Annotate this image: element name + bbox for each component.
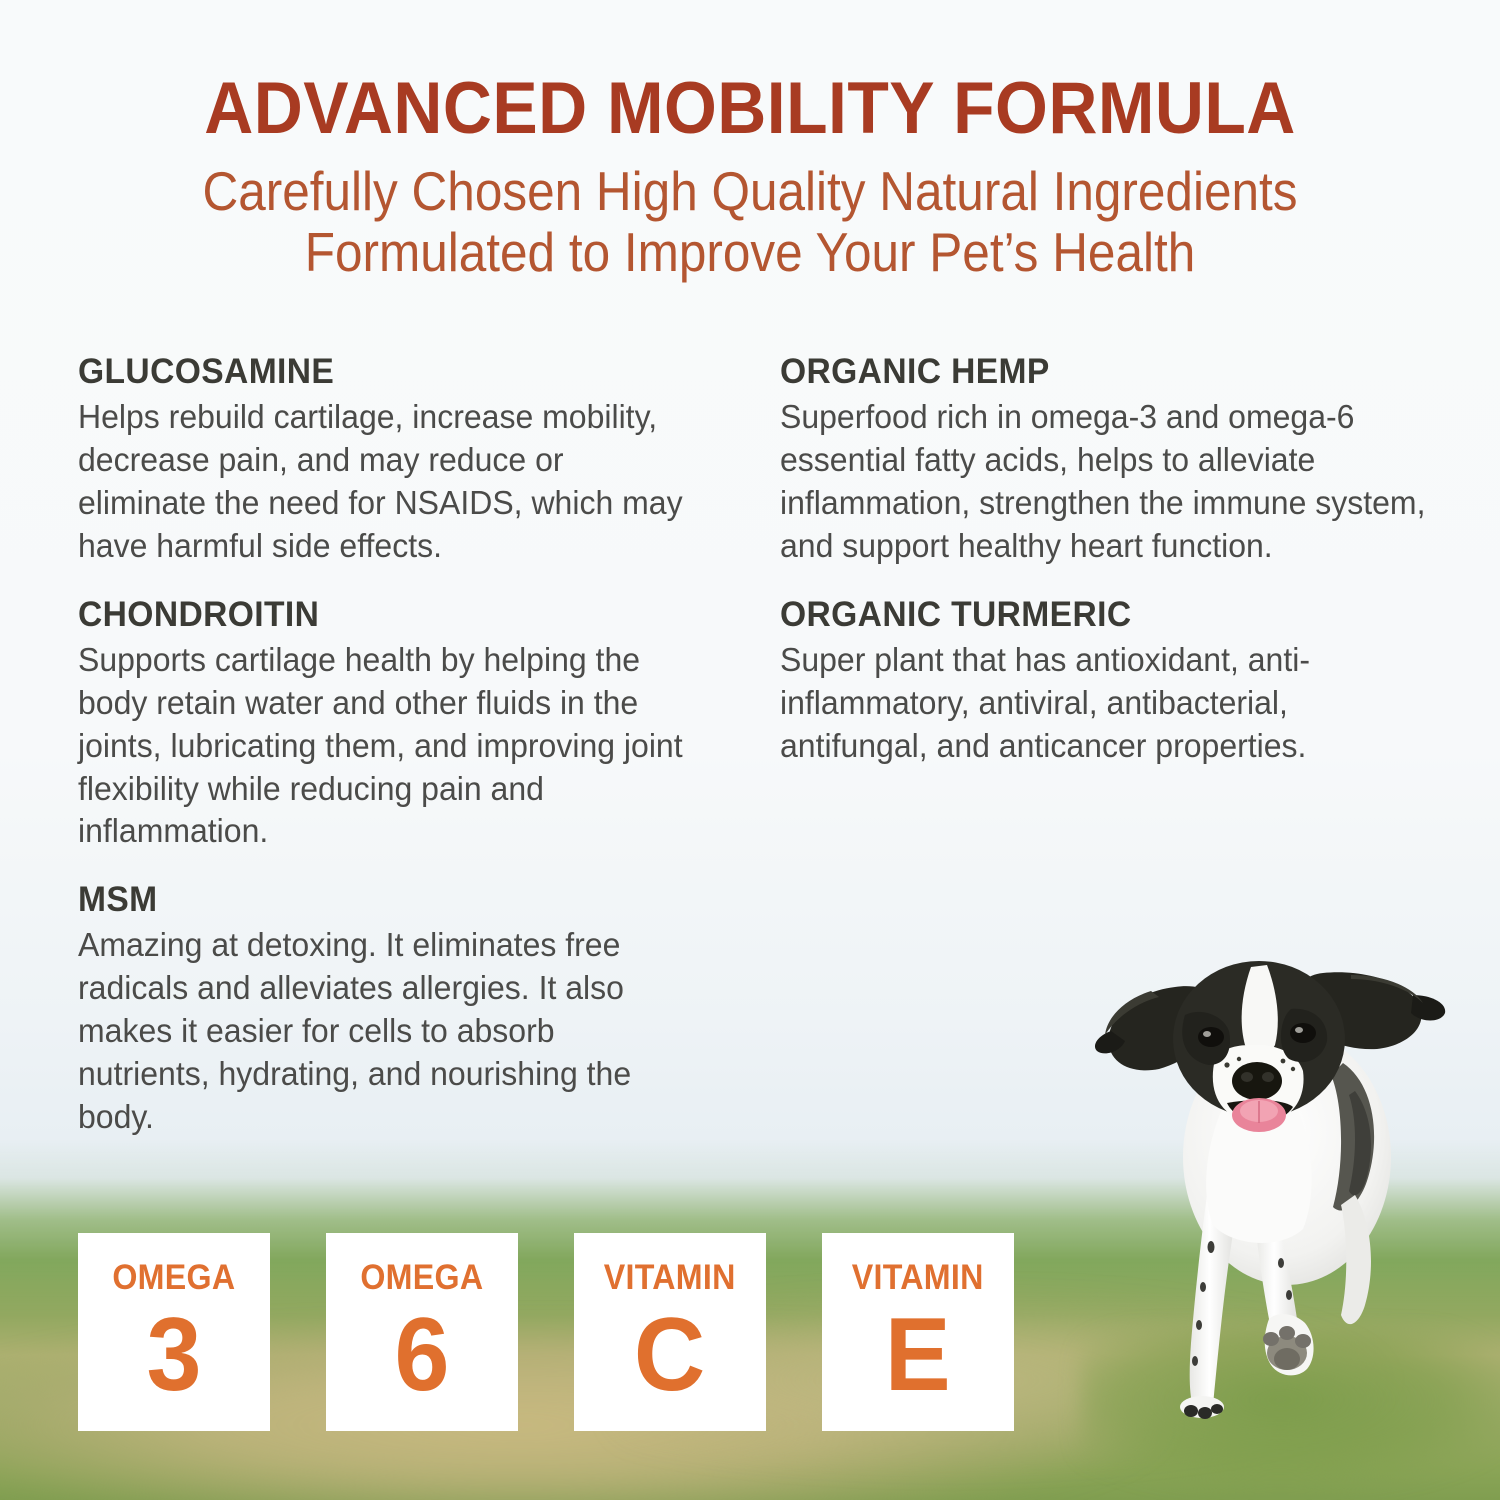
page-title: ADVANCED MOBILITY FORMULA: [53, 72, 1448, 145]
ingredient-name: MSM: [78, 880, 692, 919]
ingredient-organic-turmeric: ORGANIC TURMERIC Super plant that has an…: [780, 595, 1470, 769]
ingredient-organic-hemp: ORGANIC HEMP Superfood rich in omega-3 a…: [780, 352, 1470, 569]
badge-value: 3: [147, 1299, 202, 1411]
badge-vitamin-c: VITAMIN C: [574, 1233, 766, 1431]
headline-block: ADVANCED MOBILITY FORMULA Carefully Chos…: [0, 72, 1500, 282]
ingredient-chondroitin: CHONDROITIN Supports cartilage health by…: [78, 595, 718, 855]
ingredient-glucosamine: GLUCOSAMINE Helps rebuild cartilage, inc…: [78, 352, 718, 569]
badge-omega-6: OMEGA 6: [326, 1233, 518, 1431]
ingredient-column-right: ORGANIC HEMP Superfood rich in omega-3 a…: [780, 352, 1470, 1140]
badge-vitamin-e: VITAMIN E: [822, 1233, 1014, 1431]
nutrient-badge-row: OMEGA 3 OMEGA 6 VITAMIN C VITAMIN E: [78, 1233, 1014, 1431]
product-benefits-poster: ADVANCED MOBILITY FORMULA Carefully Chos…: [0, 0, 1500, 1500]
subtitle-line-2: Formulated to Improve Your Pet’s Health: [75, 222, 1425, 283]
ingredient-msm: MSM Amazing at detoxing. It eliminates f…: [78, 880, 718, 1140]
badge-label: OMEGA: [112, 1260, 235, 1295]
ingredient-description: Supports cartilage health by helping the…: [78, 640, 689, 854]
ingredient-description: Amazing at detoxing. It eliminates free …: [78, 925, 689, 1139]
badge-label: VITAMIN: [604, 1260, 736, 1295]
badge-value: C: [634, 1299, 705, 1411]
ingredient-name: GLUCOSAMINE: [78, 352, 692, 391]
ingredient-columns: GLUCOSAMINE Helps rebuild cartilage, inc…: [0, 352, 1500, 1140]
ingredient-description: Helps rebuild cartilage, increase mobili…: [78, 397, 689, 569]
ingredient-name: CHONDROITIN: [78, 595, 692, 634]
badge-value: E: [885, 1299, 951, 1411]
ingredient-column-left: GLUCOSAMINE Helps rebuild cartilage, inc…: [78, 352, 718, 1140]
ingredient-description: Superfood rich in omega-3 and omega-6 es…: [780, 397, 1439, 569]
ingredient-name: ORGANIC HEMP: [780, 352, 1442, 391]
ingredient-description: Super plant that has antioxidant, anti-i…: [780, 640, 1439, 769]
badge-label: VITAMIN: [852, 1260, 984, 1295]
subtitle-line-1: Carefully Chosen High Quality Natural In…: [75, 161, 1425, 222]
badge-label: OMEGA: [360, 1260, 483, 1295]
badge-value: 6: [395, 1299, 450, 1411]
badge-omega-3: OMEGA 3: [78, 1233, 270, 1431]
ingredient-name: ORGANIC TURMERIC: [780, 595, 1442, 634]
page-subtitle: Carefully Chosen High Quality Natural In…: [75, 161, 1425, 282]
